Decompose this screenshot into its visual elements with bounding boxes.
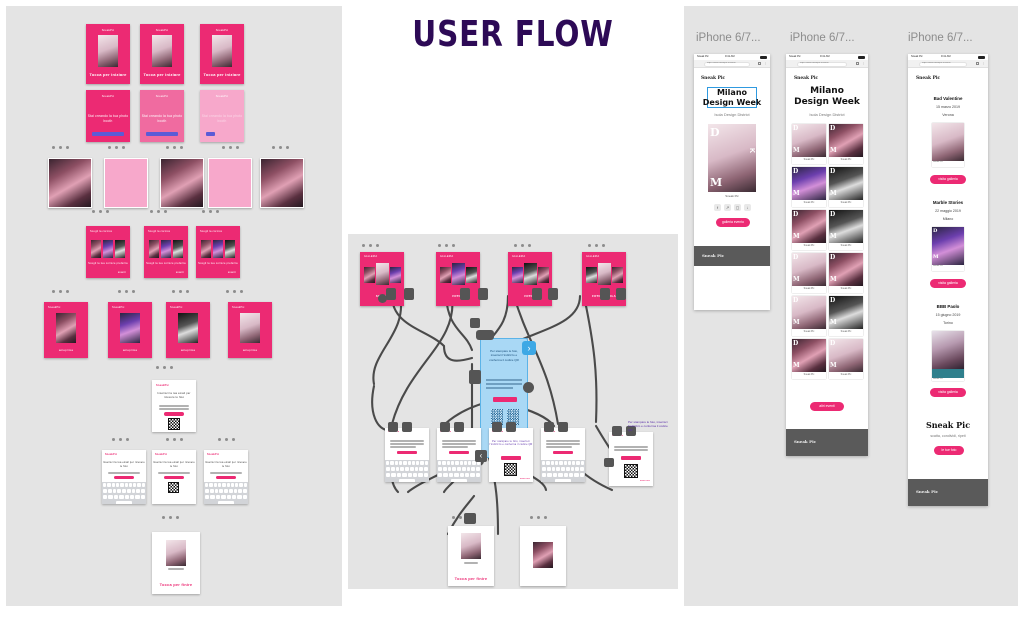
battery-icon xyxy=(978,56,985,59)
your-photos-button[interactable]: le tue foto xyxy=(934,446,964,455)
connector-node[interactable] xyxy=(478,288,488,300)
footer-bar: Sneak Pic xyxy=(786,429,868,456)
gallery-header: GALLERIA xyxy=(508,255,552,258)
event-subtitle: Isola Design District xyxy=(694,112,770,117)
preview-label: anteprima xyxy=(44,348,88,352)
screen-brand: SneakPic xyxy=(152,384,196,387)
photo-caption: Sneak Pic xyxy=(792,158,826,161)
clock-label: 9:41 AM xyxy=(725,55,735,58)
finish-cta-label: Tocca per finire xyxy=(152,582,200,587)
ellipsis-divider xyxy=(218,438,235,441)
photo-caption: Sneak Pic xyxy=(792,373,826,376)
page-title: USER FLOW xyxy=(378,14,649,55)
finish-screen[interactable]: Tocca per finire xyxy=(152,532,200,594)
event-name: Marble Stories xyxy=(908,200,988,205)
event-city: Torino xyxy=(908,321,988,325)
ellipsis-divider xyxy=(112,438,129,441)
visit-gallery-button[interactable]: visita galleria xyxy=(930,388,966,397)
ellipsis-divider xyxy=(588,244,605,247)
ellipsis-divider xyxy=(438,244,455,247)
gallery-cell[interactable]: D M Sneak Pic xyxy=(829,124,863,164)
send-photos-button[interactable] xyxy=(621,456,641,460)
connector-node[interactable] xyxy=(454,422,464,432)
qr-code xyxy=(168,418,180,430)
email-screen[interactable]: SneakPic xyxy=(541,428,585,482)
connector-node[interactable] xyxy=(612,426,622,436)
footer-brand: Sneak Pic xyxy=(702,253,724,258)
connector-node[interactable] xyxy=(469,370,481,384)
frame-label: iPhone 6/7... xyxy=(908,32,973,44)
qr-code xyxy=(168,482,179,493)
gallery-cell[interactable]: D M Sneak Pic xyxy=(829,167,863,207)
screen-brand: SneakPic xyxy=(86,95,130,98)
preview-screen[interactable]: SneakPic anteprima xyxy=(108,302,152,358)
event-thumbnail[interactable]: D M Sneak Pic xyxy=(932,227,964,271)
connector-node[interactable] xyxy=(378,294,387,303)
ellipsis-divider xyxy=(166,438,183,441)
send-photos-button[interactable] xyxy=(501,456,521,460)
event-thumbnail[interactable]: Sneak Pic xyxy=(932,331,964,381)
gallery-header: GALLERIA xyxy=(436,255,480,258)
on-screen-keyboard[interactable] xyxy=(437,460,481,482)
connector-node[interactable] xyxy=(460,288,470,300)
ellipsis-divider xyxy=(92,210,109,213)
capture-frame[interactable] xyxy=(160,158,204,208)
qr-confirm-screen[interactable]: SneakPic scan me xyxy=(609,432,653,486)
connector-node[interactable] xyxy=(548,288,558,300)
event-title-line2: Design Week xyxy=(694,98,770,107)
chevron-left-button[interactable]: ‹ xyxy=(475,450,487,462)
on-screen-keyboard[interactable] xyxy=(204,482,248,504)
event-city: Verona xyxy=(908,113,988,117)
photo-caption: Sneak Pic xyxy=(792,244,826,247)
screen-brand: SneakPic xyxy=(108,306,152,309)
ellipsis-divider xyxy=(514,244,531,247)
visit-gallery-button[interactable]: visita galleria xyxy=(930,175,966,184)
email-instruction: Inserisci la tua email per ricevere le f… xyxy=(204,461,248,468)
email-instruction: Inserisci la tua email per ricevere le f… xyxy=(102,461,146,468)
browser-url-bar[interactable]: https://www.sneakpic.it/eventi ⋮ xyxy=(908,60,988,68)
preview-label: anteprima xyxy=(166,348,210,352)
connector-node[interactable] xyxy=(506,422,516,432)
gallery-cell[interactable]: D M Sneak Pic xyxy=(792,124,826,164)
info-text: Stai creando la tua photo booth xyxy=(86,114,130,124)
gallery-cell[interactable]: D M Sneak Pic xyxy=(792,253,826,293)
gallery-caption: FOTO 2 xyxy=(436,294,480,298)
preview-label: anteprima xyxy=(108,348,152,352)
tabs-icon[interactable] xyxy=(856,62,859,65)
screen-brand: SneakPic xyxy=(140,95,184,98)
gallery-cell[interactable]: D M Sneak Pic xyxy=(829,339,863,379)
screen-brand: SneakPic xyxy=(86,29,130,32)
email-keyboard-screen[interactable]: SneakPic Inserisci la tua email per rice… xyxy=(152,450,196,504)
gallery-screen[interactable]: GALLERIA FOTO 3 xyxy=(508,252,552,306)
connector-node[interactable] xyxy=(464,513,476,524)
connector-node[interactable] xyxy=(402,422,412,432)
frame-label: iPhone 6/7... xyxy=(790,32,855,44)
iphone-mockup-1[interactable]: Sneak Pic 9:41 AM https://www.sneakpic.i… xyxy=(694,54,770,310)
gallery-cell[interactable]: D M Sneak Pic xyxy=(792,210,826,250)
qr-caption: scan me xyxy=(609,480,653,482)
share-icon[interactable]: ↗ xyxy=(724,204,731,211)
frame-chooser-screen[interactable]: Scegli la cornice Scegli la tua cornice … xyxy=(86,226,130,278)
photo-frame-letter: M xyxy=(710,176,722,189)
gallery-header: GALLERIA xyxy=(360,255,404,258)
start-cta-label: Tocca per iniziare xyxy=(200,72,244,77)
event-name: BBB Paolo xyxy=(908,304,988,309)
carrier-label: Sneak Pic xyxy=(789,55,801,58)
ellipsis-divider xyxy=(172,290,189,293)
next-label[interactable]: avanti xyxy=(144,271,188,274)
send-button[interactable] xyxy=(164,412,184,416)
outro-brand: Sneak Pic xyxy=(908,420,988,430)
frame-chooser-label: Scegli la tua cornice preferita xyxy=(144,262,188,265)
ellipsis-divider xyxy=(162,516,179,519)
battery-icon xyxy=(760,56,767,59)
footer-bar: Sneak Pic xyxy=(908,479,988,506)
gallery-caption: FOTO 3 xyxy=(508,294,552,298)
frame-label: iPhone 6/7... xyxy=(696,32,761,44)
ellipsis-divider xyxy=(272,146,289,149)
on-screen-keyboard[interactable] xyxy=(102,482,146,504)
carrier-label: Sneak Pic xyxy=(697,55,709,58)
email-screen[interactable]: SneakPic xyxy=(385,428,429,482)
screen-brand: Scegli la cornice xyxy=(196,230,240,233)
brand-logo: Sneak Pic xyxy=(794,76,818,81)
instagram-icon[interactable]: ◻ xyxy=(734,204,741,211)
footer-brand: Sneak Pic xyxy=(794,439,816,444)
email-instruction: Inserisci la tua email per ricevere le f… xyxy=(152,392,196,400)
event-thumbnail[interactable]: Sneak Pic xyxy=(932,123,964,167)
ellipsis-divider xyxy=(52,146,69,149)
event-title-line1: Milano xyxy=(786,86,868,96)
user-flow-board: USER FLOW SneakPic Tocca per iniziare Sn… xyxy=(0,0,1024,618)
frame-chooser-screen[interactable]: Scegli la cornice Scegli la tua cornice … xyxy=(144,226,188,278)
email-keyboard-screen[interactable]: SneakPic Inserisci la tua email per rice… xyxy=(102,450,146,504)
start-cta-label: Tocca per iniziare xyxy=(86,72,130,77)
connector-node[interactable] xyxy=(470,318,480,328)
screen-brand: SneakPic xyxy=(204,453,248,456)
continue-button[interactable] xyxy=(206,132,215,136)
finish-screen[interactable] xyxy=(520,526,566,586)
menu-icon[interactable]: ⋮ xyxy=(862,62,865,65)
center-note: Per stampare le foto, inserisci l'indiri… xyxy=(485,349,523,362)
on-screen-keyboard[interactable] xyxy=(541,460,585,482)
event-name: Bad Valentine xyxy=(908,96,988,101)
screen-brand: Scegli la cornice xyxy=(144,230,188,233)
annotation-text: Per stampare le foto, inserisci l'indiri… xyxy=(628,420,672,433)
connector-node[interactable] xyxy=(600,288,610,300)
send-button[interactable] xyxy=(114,476,134,479)
connector-node[interactable] xyxy=(558,422,568,432)
frame-chooser-screen[interactable]: Scegli la cornice Scegli la tua cornice … xyxy=(196,226,240,278)
info-text: Stai creando la tua photo booth xyxy=(140,114,184,124)
photo-frame-letter: K xyxy=(748,148,755,153)
continue-button[interactable] xyxy=(92,132,124,136)
next-label[interactable]: avanti xyxy=(196,271,240,274)
photo-caption: Sneak Pic xyxy=(829,330,863,333)
capture-frame[interactable] xyxy=(260,158,304,208)
url-text: https://www.sneakpic.it/eventi xyxy=(800,62,848,64)
clock-label: 9:41 AM xyxy=(941,55,951,58)
event-date: 15 giugno 2019 xyxy=(908,313,988,317)
connector-node[interactable] xyxy=(523,382,534,393)
preview-screen[interactable]: SneakPic anteprima xyxy=(228,302,272,358)
event-date: 22 maggio 2019 xyxy=(908,209,988,213)
photo-caption: Sneak Pic xyxy=(829,244,863,247)
gallery-cell[interactable]: D M Sneak Pic xyxy=(829,210,863,250)
tabs-icon[interactable] xyxy=(758,62,761,65)
photo-caption: Sneak Pic xyxy=(792,201,826,204)
frame-chooser-label: Scegli la tua cornice preferita xyxy=(86,262,130,265)
brand-logo: Sneak Pic xyxy=(916,76,940,81)
start-screen[interactable]: SneakPic Tocca per iniziare xyxy=(200,24,244,84)
on-screen-keyboard[interactable] xyxy=(385,460,429,482)
gallery-cell[interactable]: D M Sneak Pic xyxy=(829,296,863,336)
finish-cta-label: Tocca per finire xyxy=(448,576,494,581)
capture-frame[interactable] xyxy=(208,158,252,208)
visit-gallery-button[interactable]: visita galleria xyxy=(930,279,966,288)
download-icon[interactable]: ↓ xyxy=(744,204,751,211)
event-city: Milano xyxy=(908,217,988,221)
footer-brand: Sneak Pic xyxy=(916,489,938,494)
event-title-line1: Milano xyxy=(694,88,770,97)
connector-node[interactable] xyxy=(532,288,542,300)
ellipsis-divider xyxy=(222,146,239,149)
tabs-icon[interactable] xyxy=(976,62,979,65)
iphone-mockup-3[interactable]: Sneak Pic 9:41 AM https://www.sneakpic.i… xyxy=(908,54,988,506)
qr-code xyxy=(624,464,638,478)
start-screen[interactable]: SneakPic Tocca per iniziare xyxy=(86,24,130,84)
connector-node[interactable] xyxy=(544,422,554,432)
photo-caption: Sneak Pic xyxy=(694,194,770,198)
screen-brand: SneakPic xyxy=(200,29,244,32)
connector-node[interactable] xyxy=(476,330,494,340)
email-keyboard-screen[interactable]: SneakPic Inserisci la tua email per rice… xyxy=(204,450,248,504)
ellipsis-divider xyxy=(530,516,547,519)
start-cta-label: Tocca per iniziare xyxy=(140,72,184,77)
connector-node[interactable] xyxy=(604,458,614,467)
frame-chooser-label: Scegli la tua cornice preferita xyxy=(196,262,240,265)
continue-button[interactable] xyxy=(146,132,178,136)
url-text: https://www.sneakpic.it/eventi xyxy=(922,62,968,64)
browser-url-bar[interactable]: https://www.sneakpic.it/eventi ⋮ xyxy=(786,60,868,68)
url-text: https://www.sneakpic.it/eventi xyxy=(707,62,751,64)
connector-node[interactable] xyxy=(492,422,502,432)
menu-icon[interactable]: ⋮ xyxy=(764,62,767,65)
qr-code xyxy=(504,463,517,476)
connector-node[interactable] xyxy=(386,288,396,300)
next-label[interactable]: avanti xyxy=(86,271,130,274)
info-screen[interactable]: SneakPic Stai creando la tua photo booth xyxy=(86,90,130,142)
gallery-header: GALLERIA xyxy=(582,255,626,258)
facebook-icon[interactable]: f xyxy=(714,204,721,211)
screen-brand: Scegli la cornice xyxy=(86,230,130,233)
ellipsis-divider xyxy=(362,244,379,247)
ellipsis-divider xyxy=(156,366,173,369)
preview-screen[interactable]: SneakPic anteprima xyxy=(44,302,88,358)
screen-brand: SneakPic xyxy=(152,453,196,456)
gallery-screen[interactable]: GALLERIA FOTO 2 xyxy=(436,252,480,306)
chevron-right-button[interactable]: › xyxy=(522,341,536,355)
photo-caption: Sneak Pic xyxy=(829,287,863,290)
photo-caption: Sneak Pic xyxy=(792,287,826,290)
clock-label: 9:41 AM xyxy=(820,55,830,58)
screen-brand: SneakPic xyxy=(140,29,184,32)
email-qr-screen[interactable]: SneakPic Inserisci la tua email per rice… xyxy=(152,380,196,432)
menu-icon[interactable]: ⋮ xyxy=(982,62,985,65)
send-button[interactable] xyxy=(164,476,184,479)
screen-brand: SneakPic xyxy=(200,95,244,98)
event-date: 15 marzo 2019 xyxy=(908,105,988,109)
send-button[interactable] xyxy=(216,476,236,479)
photo-frame-letter: D xyxy=(710,126,720,139)
screen-brand: SneakPic xyxy=(44,306,88,309)
photo-caption: Sneak Pic xyxy=(829,158,863,161)
carrier-label: Sneak Pic xyxy=(911,55,923,58)
email-instruction: Inserisci la tua email per ricevere le f… xyxy=(152,461,196,468)
finish-screen[interactable]: Tocca per finire xyxy=(448,526,494,586)
outro-tagline: scatta, condividi, ripeti xyxy=(908,434,988,438)
qr-confirm-screen[interactable]: SneakPic Per stampare le foto, inserisci… xyxy=(489,428,533,482)
ellipsis-divider xyxy=(118,290,135,293)
ellipsis-divider xyxy=(226,290,243,293)
connector-node[interactable] xyxy=(388,422,398,432)
gallery-cell[interactable]: D M Sneak Pic xyxy=(792,296,826,336)
ellipsis-divider xyxy=(150,210,167,213)
ellipsis-divider xyxy=(166,146,183,149)
info-text: Stai creando la tua photo booth xyxy=(200,114,244,124)
battery-icon xyxy=(858,56,865,59)
ellipsis-divider xyxy=(202,210,219,213)
connector-node[interactable] xyxy=(616,288,626,300)
gallery-cell[interactable]: D M Sneak Pic xyxy=(829,253,863,293)
iphone-mockup-2[interactable]: Sneak Pic 9:41 AM https://www.sneakpic.i… xyxy=(786,54,868,456)
send-photos-button[interactable] xyxy=(397,451,417,454)
ellipsis-divider xyxy=(108,146,125,149)
event-subtitle: Isola Design District xyxy=(786,112,868,117)
browser-url-bar[interactable]: https://www.sneakpic.it/eventi ⋮ xyxy=(694,60,770,68)
screen-brand: SneakPic xyxy=(228,306,272,309)
connector-node[interactable] xyxy=(404,288,414,300)
confirm-note: Per stampare le foto, inserisci l'indiri… xyxy=(489,440,533,447)
preview-label: anteprima xyxy=(228,348,272,352)
capture-frame[interactable] xyxy=(104,158,148,208)
ellipsis-divider xyxy=(52,290,69,293)
screen-brand: SneakPic xyxy=(166,306,210,309)
footer-bar: Sneak Pic xyxy=(694,246,770,266)
brand-logo: Sneak Pic xyxy=(701,76,725,81)
info-screen[interactable]: SneakPic Stai creando la tua photo booth xyxy=(140,90,184,142)
photo-caption: Sneak Pic xyxy=(829,201,863,204)
capture-frame[interactable] xyxy=(48,158,92,208)
preview-screen[interactable]: SneakPic anteprima xyxy=(166,302,210,358)
gallery-cell[interactable]: D M Sneak Pic xyxy=(792,167,826,207)
event-title-line2: Design Week xyxy=(786,97,868,107)
more-events-button[interactable]: altri eventi xyxy=(810,402,844,411)
start-screen[interactable]: SneakPic Tocca per iniziare xyxy=(140,24,184,84)
info-screen[interactable]: SneakPic Stai creando la tua photo booth xyxy=(200,90,244,142)
gallery-button[interactable]: galleria evento xyxy=(716,218,750,227)
connector-node[interactable] xyxy=(440,422,450,432)
qr-caption: scan me xyxy=(489,478,533,480)
gallery-cell[interactable]: D M Sneak Pic xyxy=(792,339,826,379)
photo-caption: Sneak Pic xyxy=(792,330,826,333)
send-photos-button[interactable] xyxy=(553,451,573,454)
screen-brand: SneakPic xyxy=(102,453,146,456)
send-photos-button[interactable] xyxy=(493,397,517,402)
photo-caption: Sneak Pic xyxy=(829,373,863,376)
send-photos-button[interactable] xyxy=(449,451,469,454)
